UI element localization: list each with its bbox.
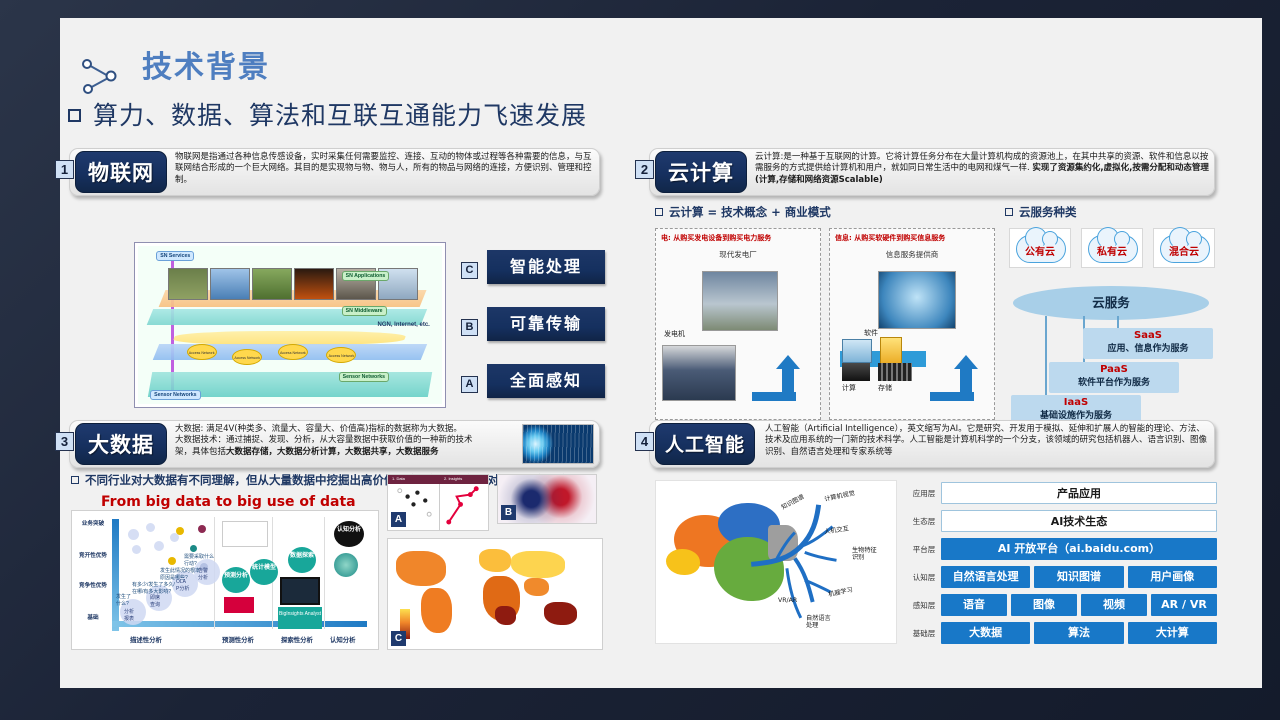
paas-box: PaaS 软件平台作为服务 (1049, 362, 1179, 393)
iot-step-c[interactable]: C 智能处理 (461, 250, 606, 294)
iot-step-b[interactable]: B 可靠传输 (461, 307, 606, 351)
cloud-service-section: 云服务种类 公有云 私有云 混合云 云服务 (1005, 204, 1221, 416)
iot-step-letter-b: B (461, 319, 478, 336)
electricity-arrow-icon (752, 349, 802, 401)
panel-ai: 4 人工智能 人工智能（Artificial Intelligence），英文缩… (635, 420, 1215, 678)
panel-bigdata: 3 大数据 大数据: 满足4V(种类多、流量大、容量大、价值高)指标的数据称为大… (55, 420, 600, 678)
saas-name: SaaS (1083, 330, 1213, 341)
ai-cell-knowledge-graph[interactable]: 知识图谱 (1034, 566, 1123, 588)
iot-step-a[interactable]: A 全面感知 (461, 364, 606, 408)
storage-label: 存储 (878, 383, 892, 393)
information-top-label: 信息服务提供商 (830, 249, 994, 260)
thumb-b-badge: B (501, 505, 516, 520)
chart-ylabel-0: 业务突破 (76, 521, 110, 528)
panel-cloud-header: 2 云计算 云计算:是一种基于互联网的计算。它将计算任务分布在大量计算机构成的资… (635, 148, 1215, 198)
paas-desc: 软件平台作为服务 (1049, 375, 1179, 388)
ai-cell-open-platform[interactable]: AI 开放平台（ai.baidu.com） (941, 538, 1217, 560)
tag-sn-middleware: SN Middleware (342, 306, 387, 316)
mindmap-label-6: 自然语言处理 (806, 615, 836, 629)
chart-ylabel-3: 基础 (76, 615, 110, 622)
generator-label: 发电机 (664, 329, 685, 339)
square-bullet-icon (71, 476, 79, 484)
panel-bigdata-number: 3 (55, 432, 74, 451)
ai-brain-mindmap: 知识图谱 计算机视觉 人机交互 生物特征识别 机器学习 VR/AR 自然语言处理 (655, 480, 897, 644)
cloud-service-title-row: 云服务种类 (1005, 204, 1221, 220)
iot-step-letter-a: A (461, 376, 478, 393)
ai-stack-row-application: 应用层 产品应用 (907, 480, 1217, 506)
chart-x-axis (112, 621, 367, 627)
cloud-analogy-electricity: 电: 从购买发电设备到购买电力服务 现代发电厂 发电机 (655, 228, 821, 420)
chart-pill-2: 数据探索 (288, 547, 316, 573)
panel-iot-body: Access Network Access Network Access Net… (69, 202, 600, 418)
bigdata-desc-line3: 架，具体包括大数据存储，大数据分析计算，大数据共享，大数据服务 (175, 447, 516, 458)
cloud-analogy-boxes: 电: 从购买发电设备到购买电力服务 现代发电厂 发电机 信息: 从购买软硬件到购… (655, 228, 995, 420)
thumb-c-badge: C (391, 631, 406, 646)
tag-sn-applications: SN Applications (342, 271, 390, 281)
chart-xlabel-2: 探索性分析 (281, 635, 313, 644)
photo-logistics (168, 268, 208, 300)
slide-header: 技术背景 (70, 32, 770, 88)
generator-photo (662, 345, 736, 401)
tag-sn-services: SN Services (156, 251, 194, 261)
panel-iot: 1 物联网 物联网是指通过各种信息传感设备，实时采集任何需要监控、连接、互动的物… (55, 148, 600, 418)
hybrid-cloud-label: 混合云 (1154, 243, 1214, 258)
ai-cell-tech-ecosystem[interactable]: AI技术生态 (941, 510, 1217, 532)
iot-step-label-c[interactable]: 智能处理 (487, 250, 605, 284)
ai-cell-algorithm[interactable]: 算法 (1034, 622, 1123, 644)
ai-layer-label-0: 应用层 (907, 488, 941, 499)
tag-ngn-internet: NGN, Internet, etc. (378, 322, 430, 329)
mindmap-label-5: VR/AR (778, 597, 797, 604)
ai-stack-row-foundation: 基础层 大数据 算法 大计算 (907, 620, 1217, 646)
panel-iot-header: 1 物联网 物联网是指通过各种信息传感设备，实时采集任何需要监控、连接、互动的物… (55, 148, 600, 198)
tag-sensor-networks-bottom: Sensor Networks (150, 390, 200, 400)
ai-stack-table: 应用层 产品应用 生态层 AI技术生态 平台层 AI 开放平台（ai.baidu… (907, 480, 1217, 648)
ai-cell-product-application[interactable]: 产品应用 (941, 482, 1217, 504)
panel-ai-body: 知识图谱 计算机视觉 人机交互 生物特征识别 机器学习 VR/AR 自然语言处理… (649, 476, 1215, 678)
ai-cell-video[interactable]: 视频 (1081, 594, 1147, 616)
page-subtitle: 算力、数据、算法和互联互通能力飞速发展 (93, 96, 587, 132)
cloud-concept-section: 云计算 = 技术概念 + 商业模式 电: 从购买发电设备到购买电力服务 现代发电… (655, 204, 995, 420)
ai-layer-label-3: 认知层 (907, 572, 941, 583)
ai-cell-speech[interactable]: 语音 (941, 594, 1007, 616)
panel-cloud-number: 2 (635, 160, 654, 179)
ai-cell-arvr[interactable]: AR / VR (1151, 594, 1217, 616)
ai-layer-label-5: 基础层 (907, 628, 941, 639)
photo-agriculture (252, 268, 292, 300)
electricity-caption: 电: 从购买发电设备到购买电力服务 (661, 233, 820, 243)
private-cloud-label: 私有云 (1082, 243, 1142, 258)
ai-cell-bigdata[interactable]: 大数据 (941, 622, 1030, 644)
photo-bridge (210, 268, 250, 300)
cloud-concept-title-row: 云计算 = 技术概念 + 商业模式 (655, 204, 995, 220)
chart-xlabel-0: 描述性分析 (130, 635, 162, 644)
slide-subtitle-row: 算力、数据、算法和互联互通能力飞速发展 (68, 96, 587, 132)
panel-cloud: 2 云计算 云计算:是一种基于互联网的计算。它将计算任务分布在大量计算机构成的资… (635, 148, 1215, 418)
saas-desc: 应用、信息作为服务 (1083, 341, 1213, 354)
analytics-maturity-chart: 业务突破 竞开性优势 竞争性优势 基础 描述性分析 预测性分析 探索性分析 认知… (71, 510, 379, 650)
ai-stack-row-platform: 平台层 AI 开放平台（ai.baidu.com） (907, 536, 1217, 562)
software-icons (840, 337, 926, 381)
page-title: 技术背景 (142, 42, 270, 86)
bigdata-desc-line2: 大数据技术：通过捕捉、发现、分析，从大容量数据中获取价值的一种新的技术 (175, 435, 516, 446)
electricity-top-label: 现代发电厂 (656, 249, 820, 260)
ai-layer-label-1: 生态层 (907, 516, 941, 527)
cloud-service-title: 云服务种类 (1019, 205, 1077, 219)
ai-cell-image[interactable]: 图像 (1011, 594, 1077, 616)
cloud-analogy-information: 信息: 从购买软硬件到购买信息服务 信息服务提供商 软件 计算 存储 (829, 228, 995, 420)
power-plant-photo (702, 271, 778, 331)
panel-bigdata-header: 3 大数据 大数据: 满足4V(种类多、流量大、容量大、价值高)指标的数据称为大… (55, 420, 600, 470)
chart-pill-3: 认知分析 (334, 521, 364, 547)
chart-ylabel-1: 竞开性优势 (76, 553, 110, 560)
iot-step-label-a[interactable]: 全面感知 (487, 364, 605, 398)
bigdata-desc-line3-pre: 架，具体包括 (175, 447, 226, 457)
datacenter-photo (878, 271, 956, 329)
information-caption: 信息: 从购买软硬件到购买信息服务 (835, 233, 994, 243)
ai-stack-row-cognitive: 认知层 自然语言处理 知识图谱 用户画像 (907, 564, 1217, 590)
ai-cell-user-profile[interactable]: 用户画像 (1128, 566, 1217, 588)
chart-ylabel-2: 竞争性优势 (76, 583, 110, 590)
panel-ai-number: 4 (635, 432, 654, 451)
cloud-concept-title: 云计算 = 技术概念 + 商业模式 (669, 205, 831, 219)
thumb-a-badge: A (391, 512, 406, 527)
panel-bigdata-badge: 大数据 (75, 423, 167, 465)
panel-ai-header: 4 人工智能 人工智能（Artificial Intelligence），英文缩… (635, 420, 1215, 470)
panel-iot-badge: 物联网 (75, 151, 167, 193)
information-arrow-icon (930, 349, 980, 401)
cloud-service-hub: 云服务 (1013, 286, 1209, 320)
access-network-cloud-2: Access Network (232, 349, 262, 365)
iot-step-letter-c: C (461, 262, 478, 279)
chart-tool-biginsights: BigInsights Analyst (278, 607, 322, 629)
panel-cloud-badge: 云计算 (655, 151, 747, 193)
ai-stack-row-perception: 感知层 语音 图像 视频 AR / VR (907, 592, 1217, 618)
ai-stack-row-ecosystem: 生态层 AI技术生态 (907, 508, 1217, 534)
square-bullet-icon (68, 109, 81, 122)
chart-pill-1: 统计模型 (250, 559, 278, 585)
photo-disaster (294, 268, 334, 300)
iot-step-label-b[interactable]: 可靠传输 (487, 307, 605, 341)
chart-xlabel-1: 预测性分析 (222, 635, 254, 644)
panel-cloud-body: 云计算 = 技术概念 + 商业模式 电: 从购买发电设备到购买电力服务 现代发电… (649, 204, 1215, 418)
bigdata-desc-line1: 大数据: 满足4V(种类多、流量大、容量大、价值高)指标的数据称为大数据。 (175, 424, 516, 435)
public-cloud-label: 公有云 (1010, 243, 1070, 258)
compute-label: 计算 (842, 383, 856, 393)
data-insights-thumb: 1. Data 2. Insights A (387, 474, 489, 531)
slide-canvas: 技术背景 算力、数据、算法和互联互通能力飞速发展 1 物联网 物联网是指通过各种… (60, 18, 1262, 688)
chart-pill-0: 预测分析 (222, 567, 250, 593)
panel-iot-description: 物联网是指通过各种信息传感设备，实时采集任何需要监控、连接、互动的物体或过程等各… (175, 152, 594, 186)
square-bullet-icon (1005, 208, 1013, 216)
saas-box: SaaS 应用、信息作为服务 (1083, 328, 1213, 359)
tag-sensor-networks: Sensor Networks (339, 372, 389, 382)
iaas-name: IaaS (1011, 397, 1141, 408)
ai-layer-label-4: 感知层 (907, 600, 941, 611)
access-network-cloud-4: Access Network (326, 347, 356, 363)
iot-diagram-canvas: Access Network Access Network Access Net… (138, 246, 442, 404)
chart-tool-spss (224, 597, 254, 613)
ai-layer-label-2: 平台层 (907, 544, 941, 555)
chart-xlabel-3: 认知分析 (330, 635, 356, 644)
panel-ai-description: 人工智能（Artificial Intelligence），英文缩写为AI。它是… (765, 424, 1209, 458)
ai-cell-compute[interactable]: 大计算 (1128, 622, 1217, 644)
access-network-cloud-3: Access Network (278, 344, 308, 360)
cloud-service-diagram: 公有云 私有云 混合云 云服务 SaaS (1005, 228, 1221, 416)
chart-y-axis (112, 519, 119, 631)
data-tunnel-image (522, 424, 594, 464)
cluster-scatter-thumb: B (497, 474, 597, 524)
access-network-cloud-1: Access Network (187, 344, 217, 360)
panel-bigdata-description: 大数据: 满足4V(种类多、流量大、容量大、价值高)指标的数据称为大数据。 大数… (175, 424, 516, 458)
panel-ai-badge: 人工智能 (655, 423, 755, 465)
ai-cell-nlp[interactable]: 自然语言处理 (941, 566, 1030, 588)
bigdata-desc-line3-bold: 大数据存储，大数据分析计算，大数据共享，大数据服务 (226, 447, 439, 457)
network-node-icon (80, 56, 134, 96)
paas-name: PaaS (1049, 364, 1179, 375)
square-bullet-icon (655, 208, 663, 216)
panel-cloud-description: 云计算:是一种基于互联网的计算。它将计算任务分布在大量计算机构成的资源池上，在其… (755, 152, 1209, 186)
iot-architecture-diagram: Access Network Access Network Access Net… (134, 242, 446, 408)
world-choropleth-map: C (387, 538, 603, 650)
iot-steps-list: C 智能处理 B 可靠传输 A 全面感知 (461, 250, 606, 421)
mindmap-label-3: 生物特征识别 (852, 547, 882, 561)
panel-bigdata-body: 不同行业对大数据有不同理解，但从大量数据中挖掘出高价值信息和知识是各界对大数据应… (69, 472, 600, 678)
panel-iot-number: 1 (55, 160, 74, 179)
